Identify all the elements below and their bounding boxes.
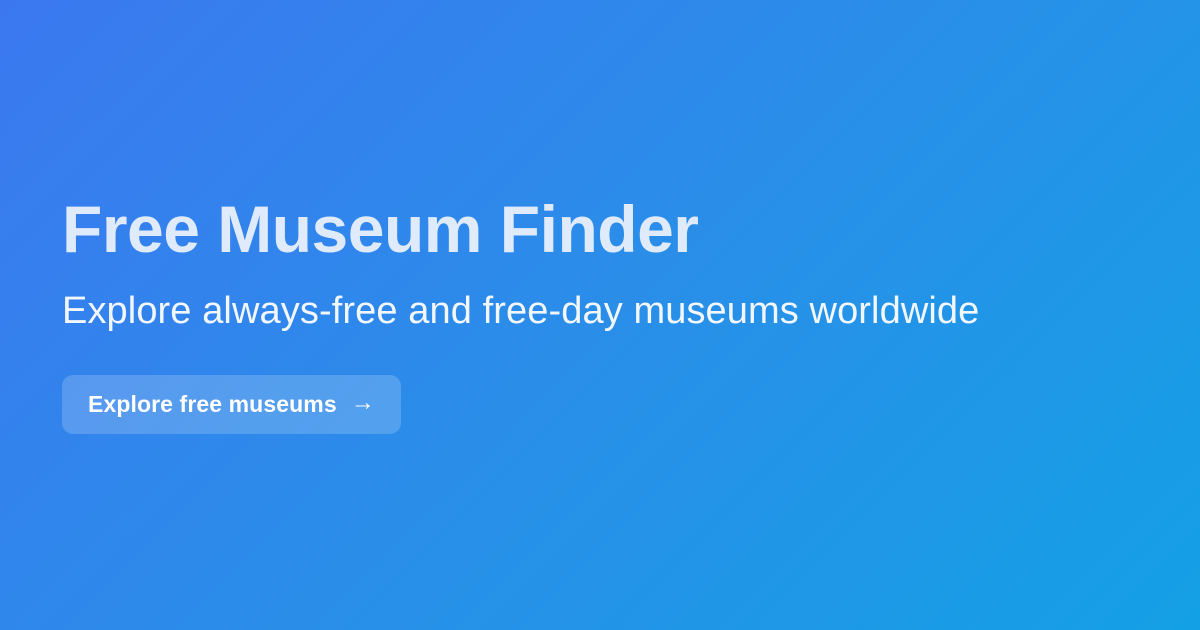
arrow-right-icon: → <box>351 391 375 415</box>
hero-content: Free Museum Finder Explore always-free a… <box>62 0 1132 630</box>
page-subtitle: Explore always-free and free-day museums… <box>62 262 979 333</box>
page-title: Free Museum Finder <box>62 196 698 262</box>
explore-free-museums-button-label: Explore free museums <box>88 391 337 418</box>
explore-free-museums-button[interactable]: Explore free museums → <box>62 375 401 434</box>
hero-banner: Free Museum Finder Explore always-free a… <box>0 0 1200 630</box>
